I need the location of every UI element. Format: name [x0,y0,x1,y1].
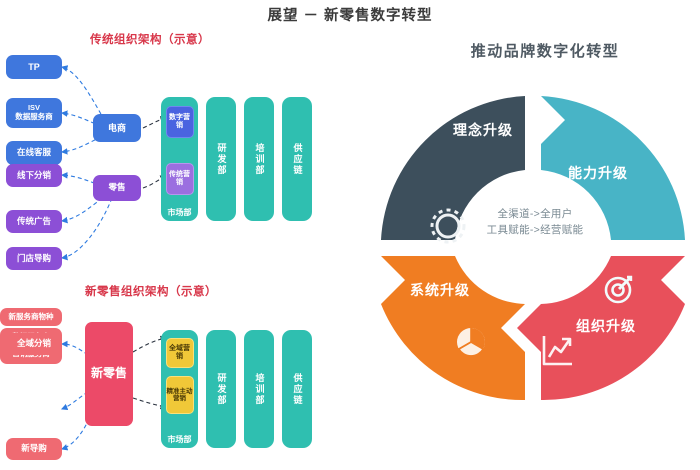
node-omni-distribution[interactable]: 全域分销 [6,333,62,355]
chip-traditional-marketing[interactable]: 传统营销 [166,163,194,195]
segment-label-organization: 组织升级 [576,316,636,336]
department-label-rd-traditional: 研发部 [217,143,226,176]
right-panel-title: 推动品牌数字化转型 [395,40,695,61]
segment-label-system: 系统升级 [410,280,470,300]
node-traditional-ad[interactable]: 传统广告 [6,210,62,233]
department-label-training-new: 培训部 [255,373,264,406]
node-offline-distribution[interactable]: 线下分销 [6,164,62,187]
center-line-1: 全渠道->全用户 [455,206,615,222]
center-line-2: 工具赋能->经营赋能 [455,222,615,238]
department-training-new[interactable]: 培训部 [244,330,274,448]
department-label-market-new: 市场部 [161,434,198,445]
donut-chart-svg [378,78,688,418]
department-rd-new[interactable]: 研发部 [206,330,236,448]
department-rd-traditional[interactable]: 研发部 [206,97,236,221]
department-label-training-traditional: 培训部 [255,143,264,176]
department-label-market-traditional: 市场部 [161,207,198,218]
section-heading-traditional: 传统组织架构（示意） [90,31,210,47]
pie-chart-icon [457,328,485,356]
donut-center-text: 全渠道->全用户 工具赋能->经营赋能 [455,206,615,239]
segment-label-capability: 能力升级 [568,163,628,183]
node-online-service[interactable]: 在线客服 [6,141,62,165]
chip-omni-marketing[interactable]: 全域营销 [166,338,194,368]
department-market-traditional[interactable]: 数字营销 传统营销 市场部 [161,97,198,221]
page-title: 展望 － 新零售数字转型 [0,4,700,25]
node-isv[interactable]: ISV 数据服务商 [6,98,62,128]
chip-precision-marketing[interactable]: 精准主动营销 [166,376,194,414]
hub-ecommerce[interactable]: 电商 [93,114,141,142]
section-heading-new-retail: 新零售组织架构（示意） [85,283,217,299]
chip-digital-marketing[interactable]: 数字营销 [166,106,194,138]
department-label-supplychain-new: 供应链 [293,373,302,406]
department-market-new[interactable]: 全域营销 精准主动营销 市场部 [161,330,198,448]
segment-system[interactable] [381,256,525,400]
node-tp[interactable]: TP [6,55,62,79]
segment-label-philosophy: 理念升级 [453,120,513,140]
department-label-supplychain-traditional: 供应链 [293,143,302,176]
department-label-rd-new: 研发部 [217,373,226,406]
node-store-guide[interactable]: 门店导购 [6,247,62,270]
department-supplychain-new[interactable]: 供应链 [282,330,312,448]
digital-transformation-donut: 理念升级 能力升级 组织升级 系统升级 [378,78,688,458]
node-new-guide[interactable]: 新导购 [6,438,62,460]
hub-new-retail[interactable]: 新零售 [85,322,133,426]
department-training-traditional[interactable]: 培训部 [244,97,274,221]
department-supplychain-traditional[interactable]: 供应链 [282,97,312,221]
hub-retail[interactable]: 零售 [93,175,141,201]
node-new-service-species[interactable]: 新服务商物种 [0,308,62,326]
